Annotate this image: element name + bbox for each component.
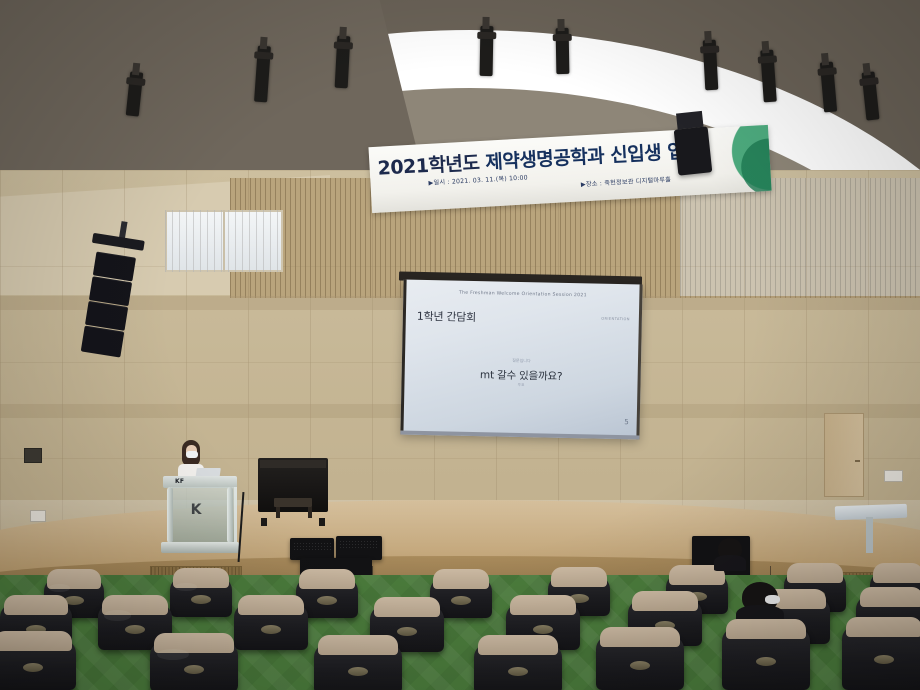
slide-note-text: 투표 [518, 383, 525, 388]
seat-headrest [860, 587, 920, 607]
seat-emblem [261, 625, 281, 634]
slide-kicker-text: 질문입니다 [512, 358, 531, 364]
seat-headrest [600, 627, 679, 647]
hanging-stage-light [703, 40, 719, 91]
seat-emblem [317, 596, 337, 605]
seat-emblem [23, 663, 43, 672]
audience-attendee [742, 582, 778, 612]
podium-column-right [227, 487, 233, 543]
wall-switch-plate[interactable] [884, 470, 903, 482]
seat-highlight [175, 583, 197, 592]
seat-headrest [726, 619, 805, 639]
auditorium-photo: 2021학년도 제약생명공학과 신입생 입학 ▶일시 : 2021. 03. 1… [0, 0, 920, 690]
side-table-leg [866, 517, 873, 553]
auditorium-seat[interactable] [842, 626, 920, 690]
stage-floor-monitor [290, 538, 334, 560]
slide-question-text: mt 갈수 있을까요? [480, 367, 563, 384]
piano-leg [261, 518, 267, 526]
wall-window [165, 210, 283, 272]
auditorium-seat[interactable] [722, 628, 810, 690]
upright-piano [258, 458, 328, 520]
face-mask-icon [186, 451, 198, 458]
seat-emblem [125, 625, 145, 634]
seat-headrest [478, 635, 557, 655]
seat-headrest [510, 595, 577, 615]
stage-door[interactable] [824, 413, 864, 497]
seat-emblem [756, 657, 776, 666]
auditorium-seat[interactable] [150, 642, 238, 690]
stage-floor-monitor [336, 536, 382, 560]
lectern-podium: KF K [163, 476, 237, 554]
podium-base [161, 542, 239, 553]
seat-headrest [873, 563, 920, 583]
auditorium-seat[interactable] [0, 640, 76, 690]
attendee-shoulders [714, 555, 747, 570]
seat-headrest [787, 563, 843, 583]
piano-bench [274, 498, 312, 507]
seat-emblem [184, 665, 204, 674]
seat-highlight [104, 610, 131, 620]
piano-bench-leg [308, 507, 312, 518]
speaker-module [81, 326, 125, 358]
seat-emblem [348, 667, 368, 676]
seat-highlight [157, 649, 189, 660]
door-handle-icon [855, 460, 860, 462]
banner-title-department: 제약생명공학과 [485, 145, 605, 174]
seat-emblem [874, 655, 894, 664]
seat-emblem [508, 667, 528, 676]
auditorium-seat[interactable] [314, 644, 402, 690]
podium-column-left [167, 487, 173, 543]
auditorium-seat[interactable] [474, 644, 562, 690]
window-mullion [223, 210, 225, 272]
seat-headrest [846, 617, 920, 637]
banner-location: ▶장소 : 죽헌정보관 디지털마루홀 [581, 174, 672, 188]
seat-headrest [433, 569, 489, 589]
seat-emblem [191, 595, 211, 604]
projection-screen: The Freshman Welcome Orientation Session… [400, 280, 642, 440]
piano-lid [260, 460, 326, 468]
presentation-slide: The Freshman Welcome Orientation Session… [405, 283, 639, 435]
ceiling-speaker-icon [674, 126, 713, 175]
seat-headrest [551, 567, 607, 587]
auditorium-seat[interactable] [596, 636, 684, 690]
hanging-stage-light [556, 28, 570, 74]
face-mask-icon [765, 595, 780, 605]
seat-emblem [397, 627, 417, 636]
seat-headrest [4, 595, 69, 615]
slide-header-text: The Freshman Welcome Orientation Session… [459, 291, 587, 299]
monitor-grille [293, 542, 331, 552]
slide-page-number: 5 [624, 418, 629, 426]
piano-bench-leg [276, 507, 280, 518]
seat-emblem [630, 661, 650, 670]
hanging-stage-light [760, 50, 777, 103]
hanging-stage-light [480, 26, 494, 76]
wall-panel-box [24, 448, 42, 463]
piano-leg [319, 518, 325, 526]
monitor-grille [339, 540, 379, 550]
podium-logo-letter: K [189, 502, 203, 518]
slide-title: 1학년 간담회 [417, 308, 476, 325]
seat-headrest [299, 569, 355, 589]
auditorium-seat[interactable] [170, 577, 232, 617]
hanging-stage-light [335, 36, 351, 89]
seat-headrest [374, 597, 441, 617]
seat-emblem [533, 625, 553, 634]
wall-outlet-plate [30, 510, 46, 522]
seat-headrest [318, 635, 397, 655]
seat-highlight [49, 584, 71, 593]
seat-headrest [238, 595, 305, 615]
seat-headrest [632, 591, 699, 611]
auditorium-seat[interactable] [234, 604, 308, 650]
seat-headrest [0, 631, 72, 651]
audience-attendee [718, 538, 742, 560]
slide-brand-mark: ORIENTATION [601, 317, 630, 322]
podium-brand-logo: KF [175, 477, 219, 486]
seat-emblem [451, 596, 471, 605]
